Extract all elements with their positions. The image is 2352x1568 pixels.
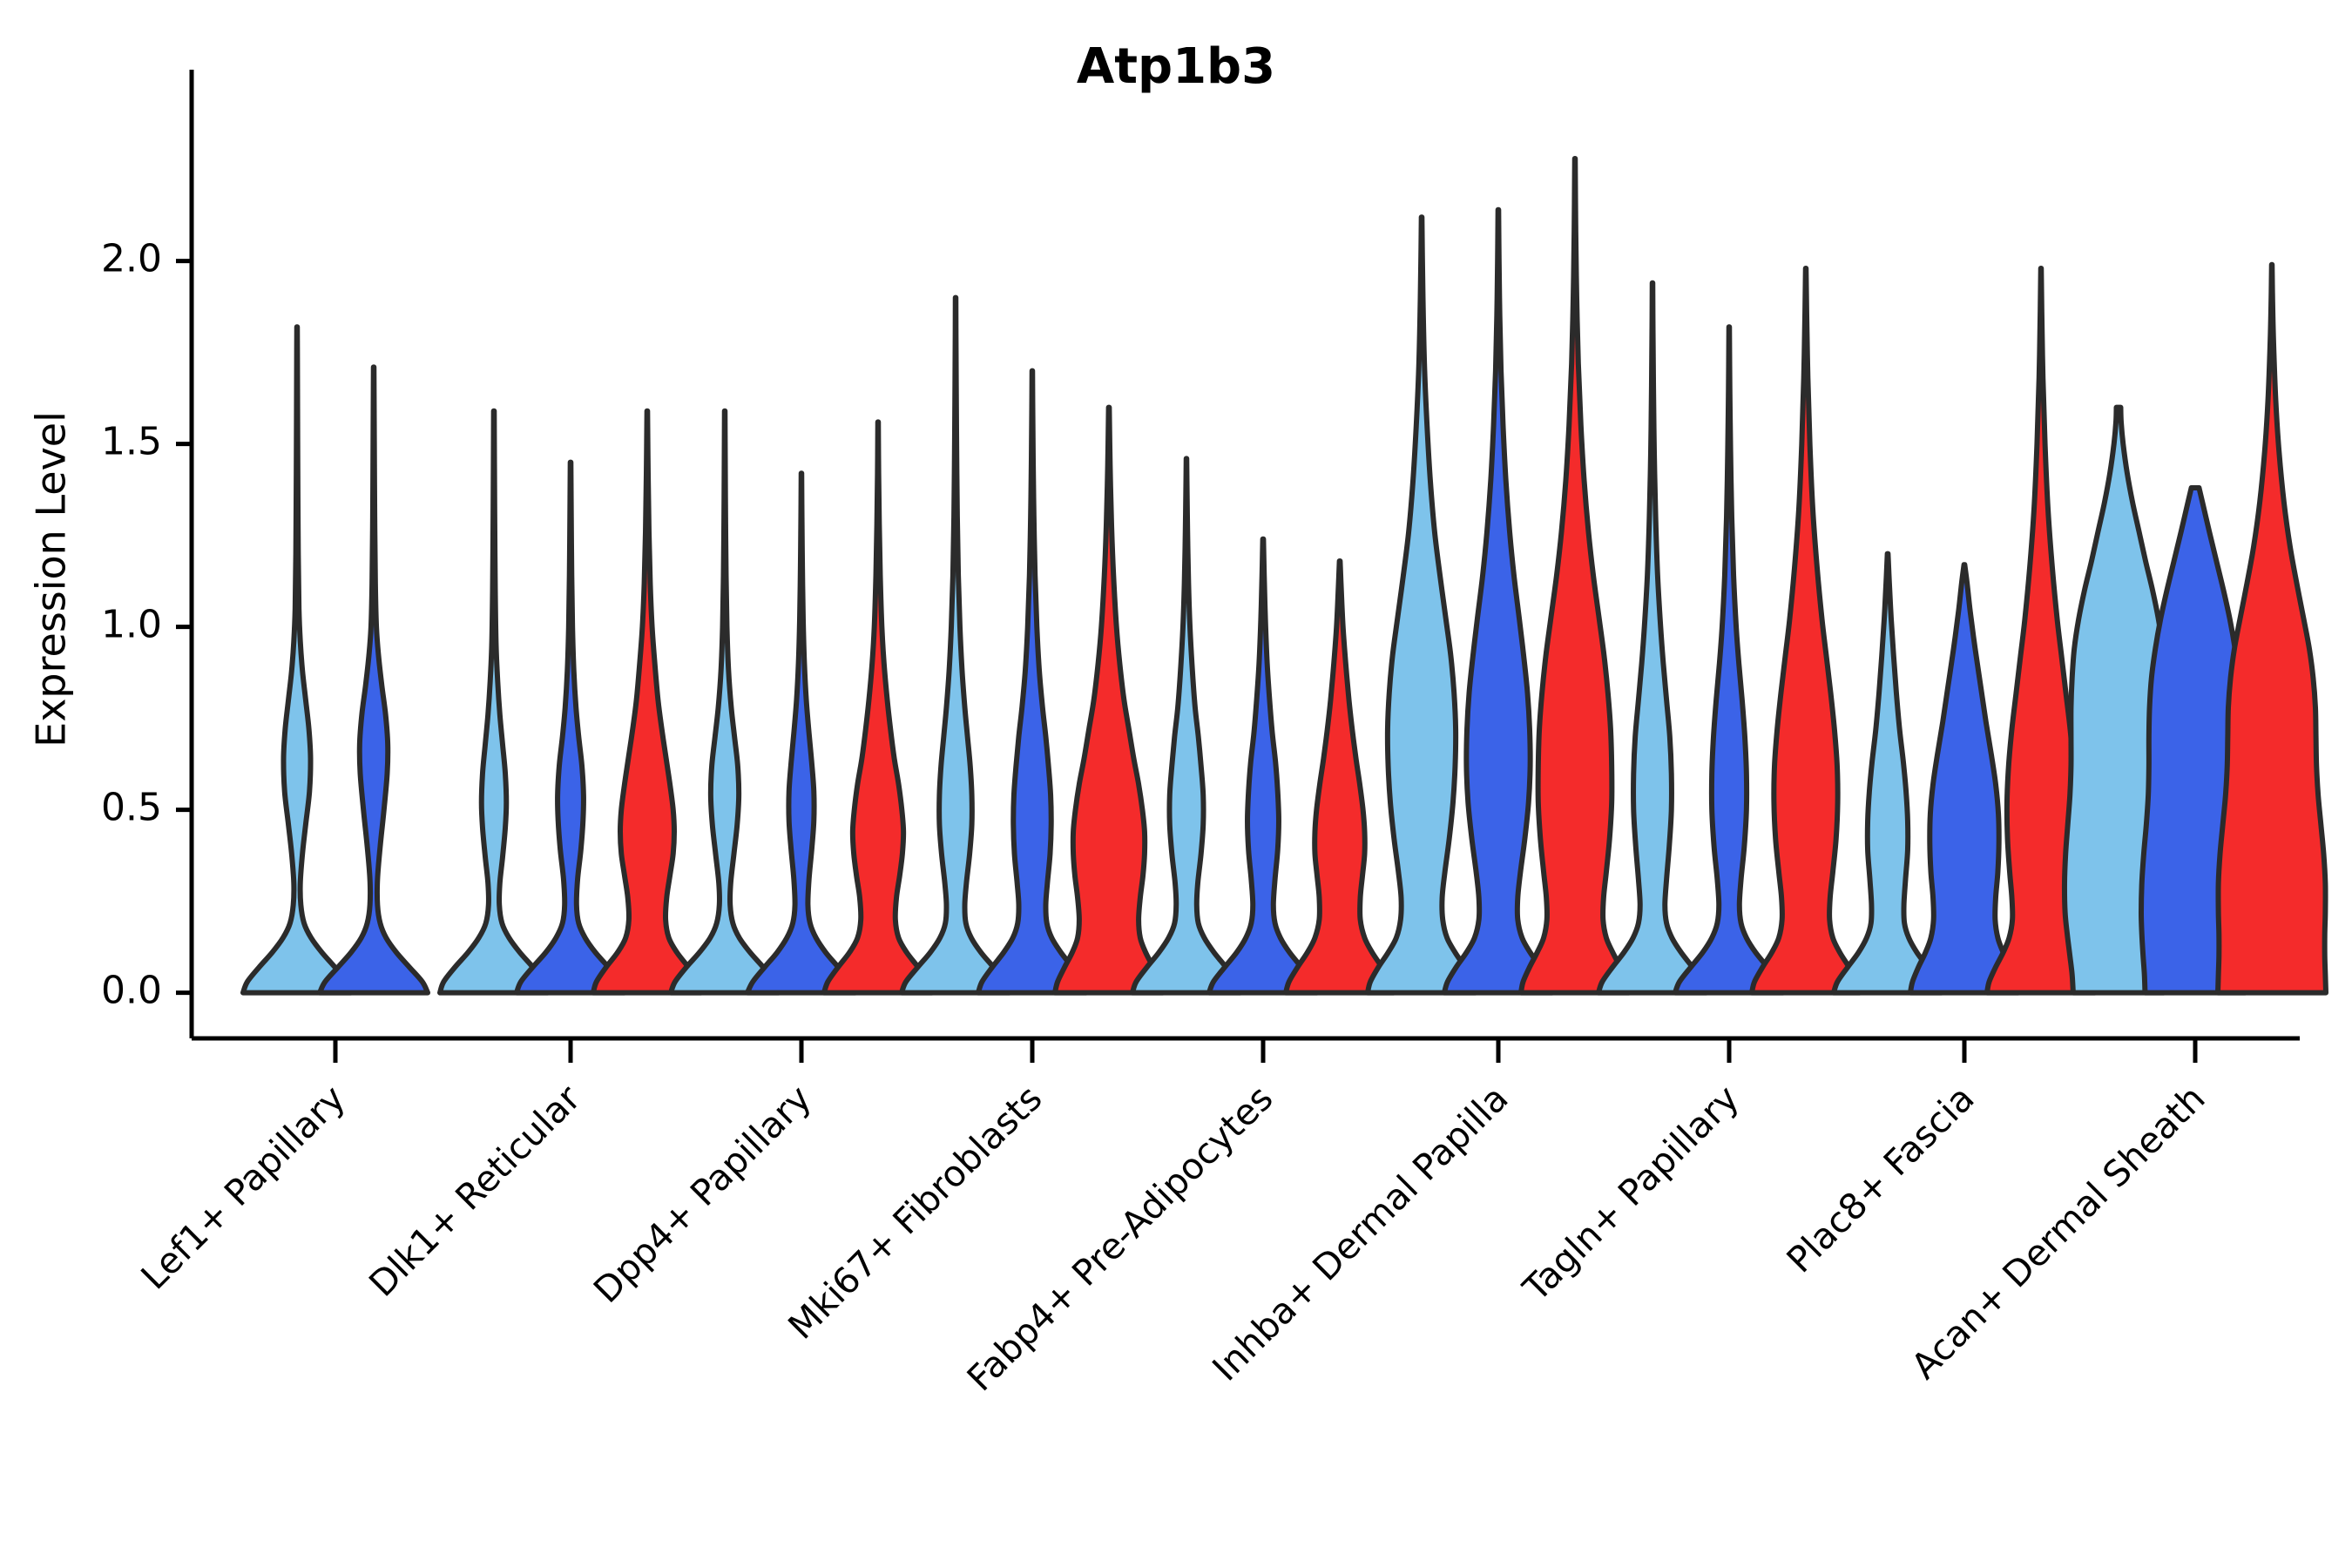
violin-shape	[593, 411, 701, 993]
violin-plot-figure: Atp1b3 Expression Level 0.00.51.01.52.0 …	[0, 0, 2352, 1568]
violin-shape	[1598, 283, 1707, 993]
violin-shape	[517, 463, 625, 993]
y-tick-label: 1.0	[101, 603, 162, 647]
x-tick-label: Dpp4+ Papillary	[585, 1078, 819, 1311]
violin-shape	[1132, 458, 1240, 992]
violin-shape	[747, 473, 855, 992]
violin-series-group	[243, 159, 2326, 993]
y-tick-label: 0.0	[101, 969, 162, 1013]
x-tick-label: Plac8+ Fascia	[1779, 1078, 1983, 1281]
y-tick-label: 0.5	[101, 786, 162, 830]
violin-shape	[902, 298, 1010, 993]
chart-canvas: Atp1b3 Expression Level 0.00.51.01.52.0 …	[0, 0, 2352, 1568]
violin-shape	[243, 327, 351, 992]
x-tick-label: Tagln+ Papillary	[1515, 1078, 1747, 1310]
y-axis-ticks: 0.00.51.01.52.0	[101, 237, 192, 1013]
y-tick-label: 2.0	[101, 237, 162, 281]
violin-shape	[1752, 268, 1860, 993]
chart-title: Atp1b3	[1077, 38, 1275, 95]
violin-shape	[1055, 408, 1163, 993]
x-tick-label: Lef1+ Papillary	[133, 1078, 354, 1298]
violin-shape	[440, 411, 548, 993]
violin-shape	[320, 367, 428, 992]
y-axis-label: Expression Level	[28, 411, 75, 747]
violin-shape	[1521, 159, 1629, 993]
violin-shape	[1675, 327, 1783, 992]
violin-shape	[824, 422, 932, 992]
violin-shape	[1444, 210, 1552, 993]
x-axis-ticks	[335, 1038, 2195, 1063]
violin-shape	[1286, 561, 1394, 993]
x-tick-label: Mki67+ Fibroblasts	[781, 1078, 1051, 1348]
violin-shape	[1368, 217, 1476, 992]
violin-shape	[1834, 554, 1942, 993]
violin-shape	[1209, 539, 1317, 993]
violin-shape	[1910, 564, 2018, 992]
x-axis-tick-labels: Lef1+ PapillaryDlk1+ ReticularDpp4+ Papi…	[133, 1078, 2213, 1400]
y-tick-label: 1.5	[101, 420, 162, 464]
x-tick-label: Dlk1+ Reticular	[361, 1078, 588, 1305]
violin-shape	[978, 371, 1086, 993]
violin-shape	[671, 411, 779, 993]
